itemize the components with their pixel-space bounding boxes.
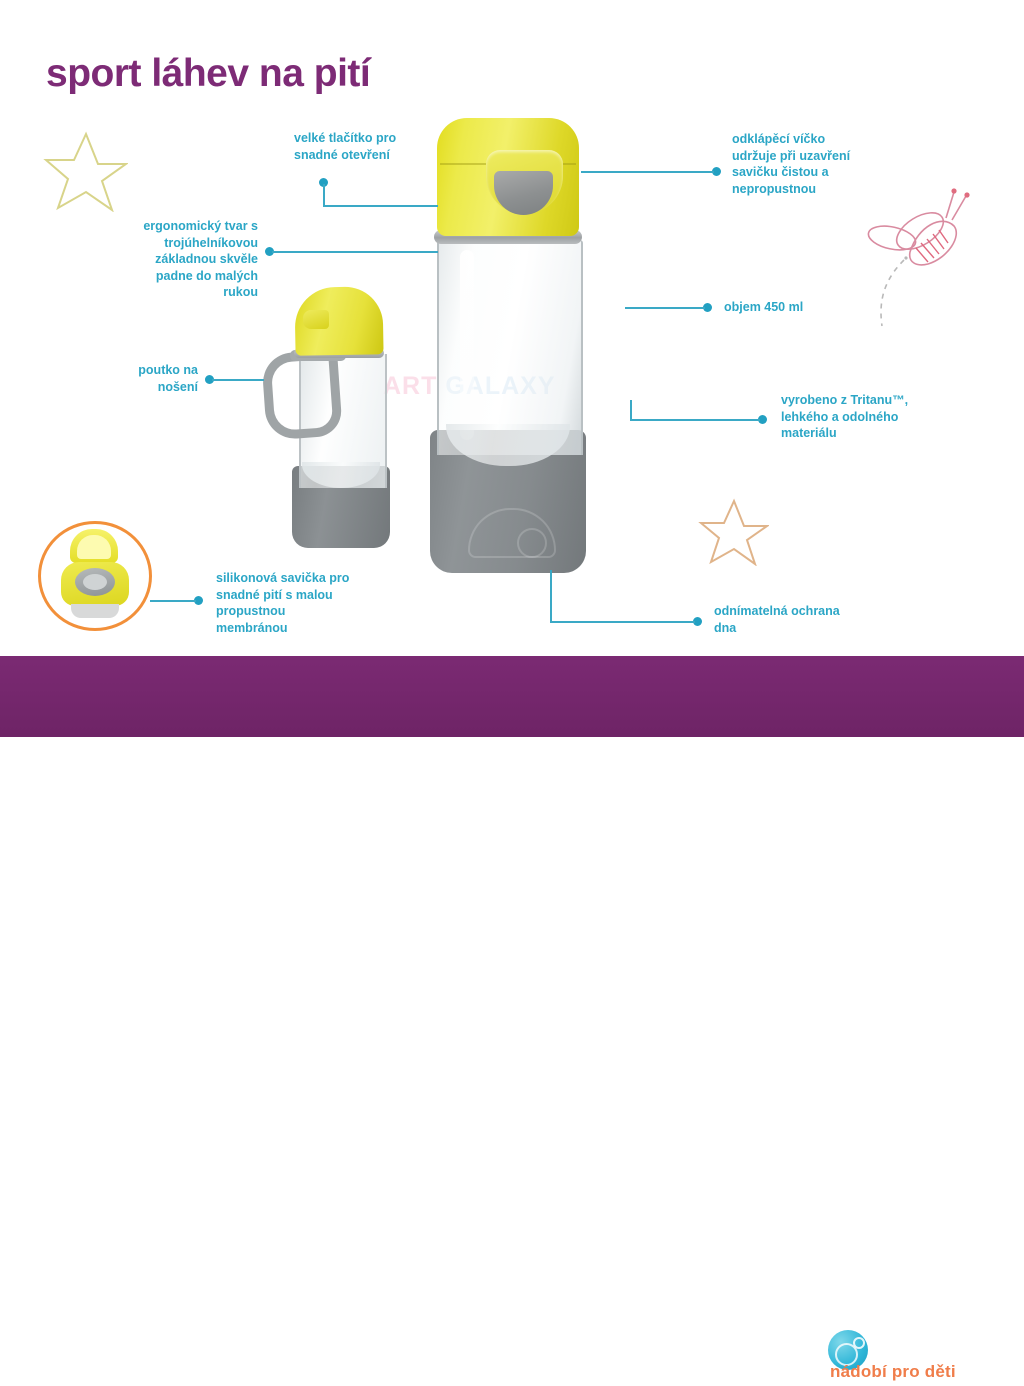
callout-flip-lid-line2: udržuje při uzavření — [732, 148, 912, 165]
inset-flip-lid-inner — [77, 535, 111, 559]
bubble-dot-icon — [853, 1337, 865, 1349]
callout-base-cover: odnímatelná ochrana dna — [714, 603, 904, 636]
callout-tritan-line1: vyrobeno z Tritanu™, — [781, 392, 961, 409]
callout-volume: objem 450 ml — [724, 299, 884, 316]
callout-line-volume — [625, 307, 705, 309]
small-bottle-carry-handle — [261, 349, 343, 440]
callout-spout-line4: membránou — [216, 620, 396, 637]
brand-apostrophe: ' — [952, 1332, 955, 1349]
callout-flip-lid-line4: nepropustnou — [732, 181, 912, 198]
page-title: sport láhev na pití — [46, 52, 370, 96]
main-bottle-body — [437, 240, 583, 455]
brand-logo: b.box' nádobí pro děti — [828, 1328, 1008, 1386]
callout-base-cover-line2: dna — [714, 620, 904, 637]
callout-spout-line1: silikonová savička pro — [216, 570, 396, 587]
callout-ergonomic-line5: rukou — [96, 284, 258, 301]
callout-line-base-cover-v — [550, 570, 552, 622]
callout-volume-line1: objem 450 ml — [724, 299, 884, 316]
callout-lid-button-line2: snadné otevření — [294, 147, 454, 164]
watermark-part1: ART — [383, 372, 437, 400]
callout-line-tritan-h — [630, 419, 760, 421]
callout-flip-lid: odklápěcí víčko udržuje při uzavření sav… — [732, 131, 912, 197]
star-outline-bottom-icon — [697, 496, 769, 566]
brand-tagline: nádobí pro děti — [830, 1362, 956, 1382]
callout-flip-lid-line1: odklápěcí víčko — [732, 131, 912, 148]
brand-name: b.box' — [874, 1328, 954, 1364]
callout-line-carry-loop — [212, 379, 264, 381]
callout-carry-loop-line2: nošení — [88, 379, 198, 396]
star-outline-icon — [42, 128, 128, 212]
callout-line-tritan-v — [630, 400, 632, 420]
callout-line-lid-button-v — [323, 184, 325, 206]
callout-silicone-spout: silikonová savička pro snadné pití s mal… — [216, 570, 396, 636]
callout-spout-line3: propustnou — [216, 603, 396, 620]
callout-ergonomic-line1: ergonomický tvar s — [96, 218, 258, 235]
footer-bar: b.box' nádobí pro děti — [0, 656, 1024, 737]
callout-lid-button-line1: velké tlačítko pro — [294, 130, 454, 147]
callout-line-base-cover-h — [550, 621, 695, 623]
brand-name-text: b.box — [874, 1328, 952, 1363]
callout-tritan: vyrobeno z Tritanu™, lehkého a odolného … — [781, 392, 961, 442]
callout-carry-loop-line1: poutko na — [88, 362, 198, 379]
inset-cap-foot — [71, 604, 119, 618]
callout-line-ergonomic — [272, 251, 438, 253]
callout-spout-line2: snadné pití s malou — [216, 587, 396, 604]
inset-spout-membrane — [83, 574, 107, 590]
callout-line-flip-lid — [581, 171, 714, 173]
callout-lid-button: velké tlačítko pro snadné otevření — [294, 130, 454, 163]
callout-base-cover-line1: odnímatelná ochrana — [714, 603, 904, 620]
base-emboss-circle — [517, 528, 547, 558]
callout-ergonomic-line3: základnou skvěle — [96, 251, 258, 268]
main-bottle-highlight — [460, 250, 474, 440]
callout-line-lid-button-h — [323, 205, 438, 207]
callout-tritan-line3: materiálu — [781, 425, 961, 442]
spout-detail-inset-photo — [38, 521, 152, 631]
callout-ergonomic: ergonomický tvar s trojúhelníkovou zákla… — [96, 218, 258, 301]
callout-carry-loop: poutko na nošení — [88, 362, 198, 395]
callout-ergonomic-line4: padne do malých — [96, 268, 258, 285]
callout-flip-lid-line3: savičku čistou a — [732, 164, 912, 181]
infographic-canvas: sport láhev na pití ART GALAXY — [0, 0, 1024, 768]
small-bottle-lid-tab — [303, 310, 329, 329]
callout-tritan-line2: lehkého a odolného — [781, 409, 961, 426]
callout-ergonomic-line2: trojúhelníkovou — [96, 235, 258, 252]
callout-line-silicone-spout — [150, 600, 196, 602]
